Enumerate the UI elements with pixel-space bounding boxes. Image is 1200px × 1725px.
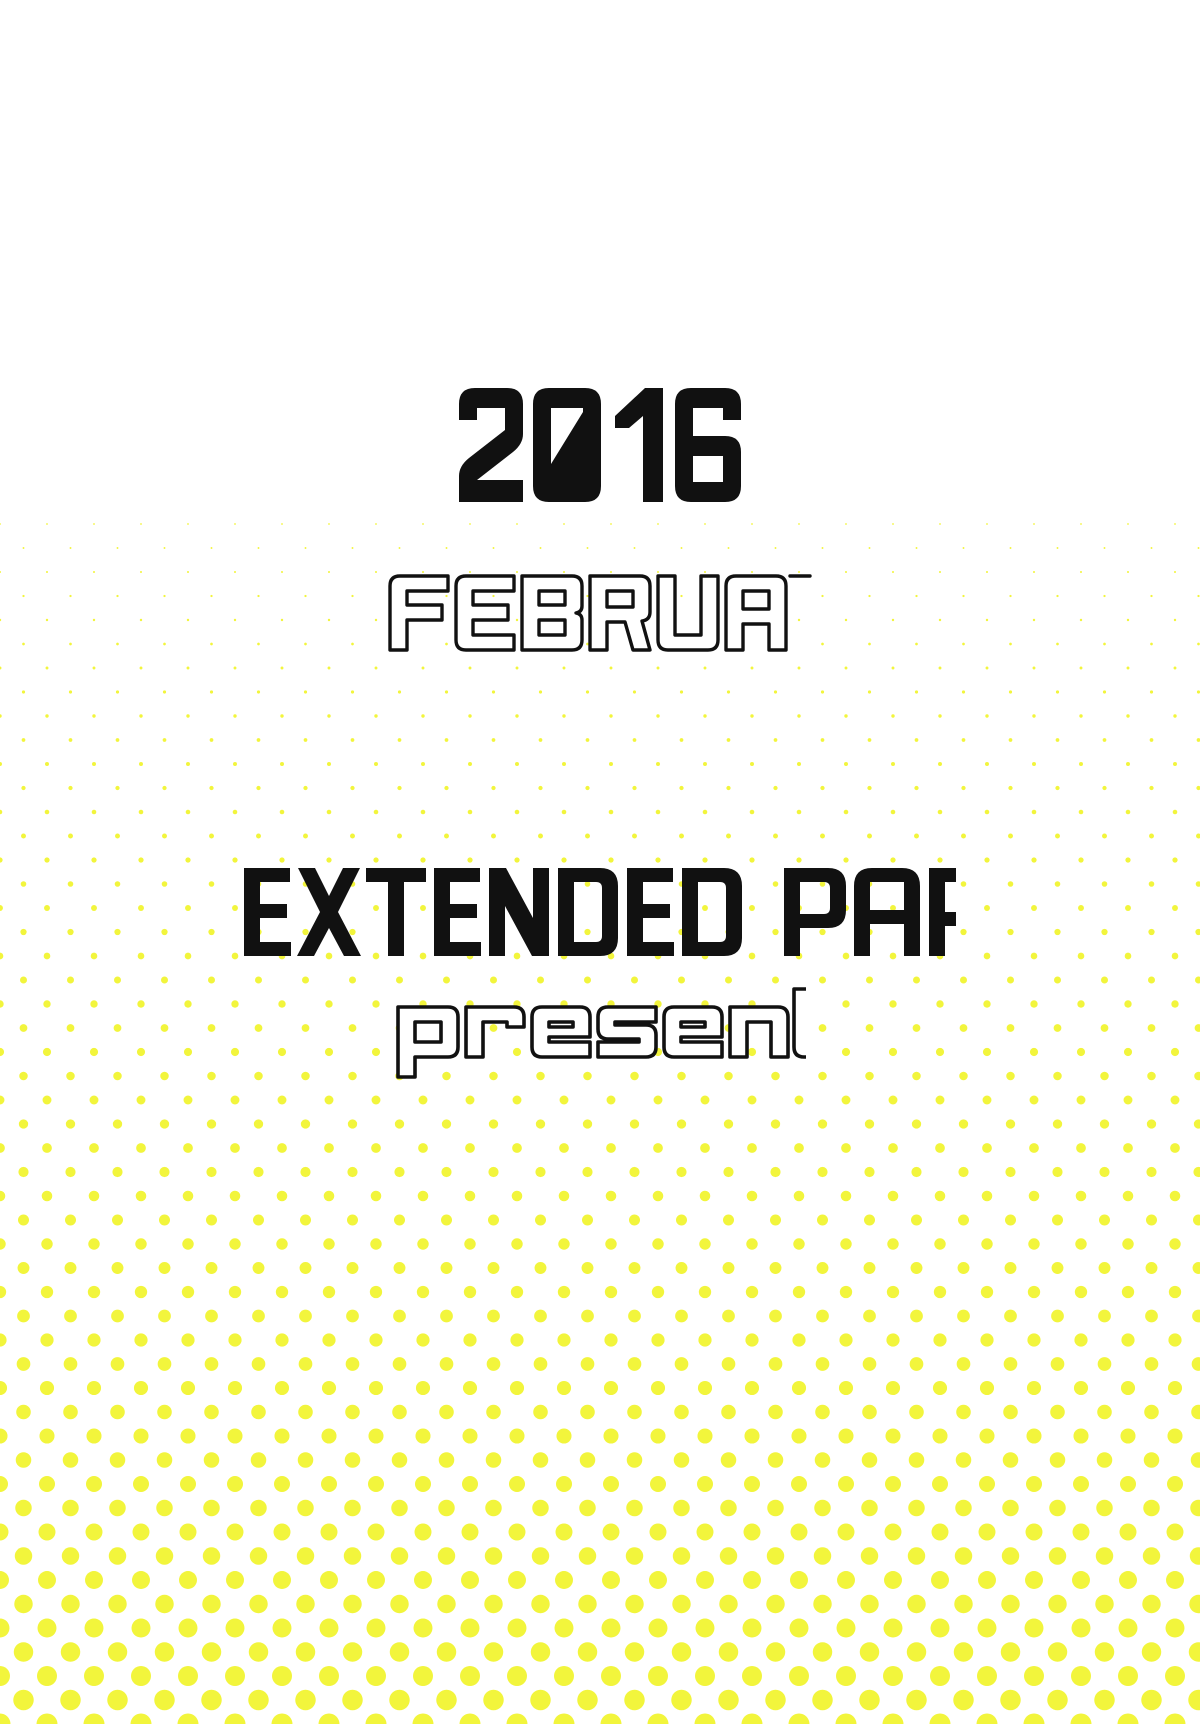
- presents-glyphs: [394, 985, 806, 1081]
- poster-canvas: [0, 0, 1200, 1724]
- year-glyphs: [455, 382, 745, 508]
- title-stack: [0, 0, 1200, 1724]
- halftone-dot-background: [0, 0, 1200, 1724]
- studio-heading: [0, 866, 1200, 958]
- presents-heading: [0, 985, 1200, 1081]
- month-heading: [0, 572, 1200, 654]
- month-glyphs: [386, 572, 814, 654]
- studio-glyphs: [244, 866, 956, 958]
- year-heading: [0, 382, 1200, 508]
